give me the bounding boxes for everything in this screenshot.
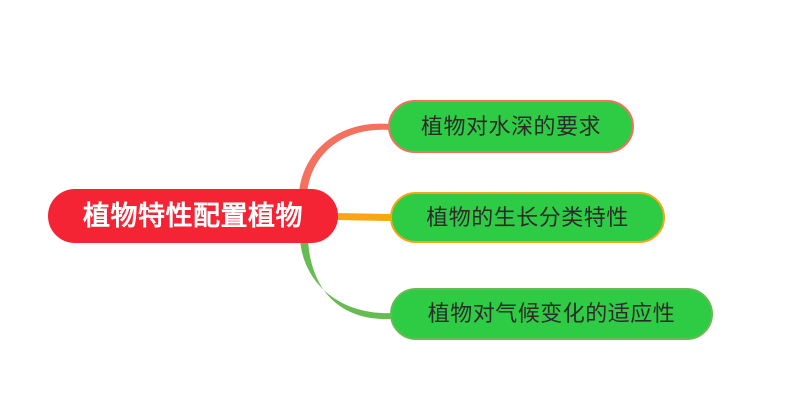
mindmap-root-node[interactable]: 植物特性配置植物 [48, 189, 338, 243]
connector-root-to-child-1 [299, 124, 389, 195]
connector-root-to-child-3 [300, 240, 391, 319]
connector-root-to-child-2 [336, 213, 391, 221]
mindmap-canvas: 植物特性配置植物 植物对水深的要求 植物的生长分类特性 植物对气候变化的适应性 [0, 0, 811, 407]
mindmap-child-label-2: 植物的生长分类特性 [426, 207, 629, 229]
mindmap-child-label-1: 植物对水深的要求 [421, 116, 601, 138]
mindmap-child-label-3: 植物对气候变化的适应性 [428, 303, 676, 325]
mindmap-root-label: 植物特性配置植物 [83, 203, 303, 230]
mindmap-child-node-2[interactable]: 植物的生长分类特性 [390, 192, 665, 243]
mindmap-child-node-3[interactable]: 植物对气候变化的适应性 [390, 288, 713, 340]
mindmap-child-node-1[interactable]: 植物对水深的要求 [388, 100, 634, 153]
